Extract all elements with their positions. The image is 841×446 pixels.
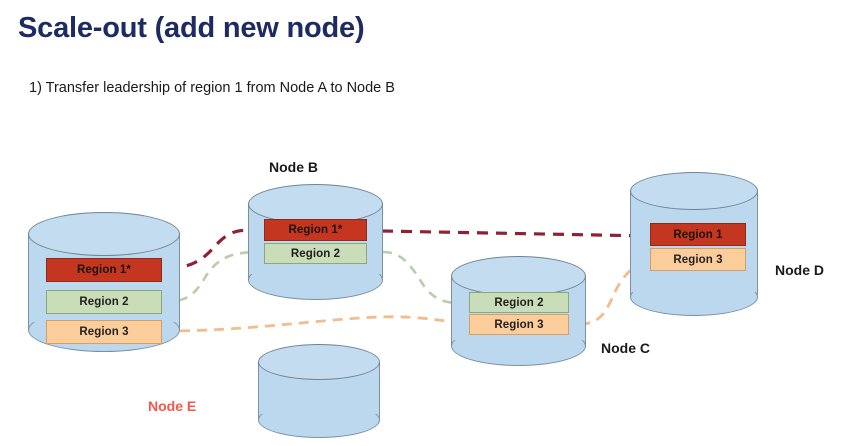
cylinder-top	[258, 344, 380, 380]
cylinder-top	[248, 184, 383, 224]
cylinder-seam-mask	[632, 272, 757, 292]
region-chip[interactable]: Region 1*	[46, 258, 162, 282]
node-b-label: Node B	[269, 159, 318, 175]
cylinder-seam-mask	[260, 396, 379, 414]
node-a-cylinder[interactable]: Region 1* Region 2 Region 3	[28, 212, 180, 352]
region-chip[interactable]: Region 3	[46, 320, 162, 344]
replication-diagram: Region 1* Region 2 Region 3 Region 1* Re…	[0, 0, 841, 446]
connector-region3-a-to-c	[163, 317, 466, 331]
node-b-cylinder[interactable]: Region 1* Region 2	[248, 184, 383, 300]
node-e-cylinder[interactable]	[258, 344, 380, 440]
node-d-cylinder[interactable]: Region 1 Region 3	[630, 172, 758, 316]
cylinder-top	[630, 172, 758, 210]
connector-region1-b-to-d	[382, 231, 650, 236]
node-c-cylinder[interactable]: Region 2 Region 3	[451, 256, 586, 366]
cylinder-top	[28, 212, 180, 256]
node-e-label: Node E	[148, 398, 196, 414]
region-chip[interactable]: Region 3	[650, 248, 746, 271]
region-chip[interactable]: Region 3	[469, 314, 569, 335]
cylinder-shape	[248, 184, 383, 300]
region-chip[interactable]: Region 1*	[264, 219, 367, 241]
node-d-label: Node D	[775, 262, 824, 278]
region-chip[interactable]: Region 2	[264, 243, 367, 264]
region-chip[interactable]: Region 2	[46, 290, 162, 314]
slide-canvas: Scale-out (add new node) 1) Transfer lea…	[0, 0, 841, 446]
cylinder-top	[451, 256, 586, 296]
region-chip[interactable]: Region 1	[650, 223, 746, 246]
cylinder-shape	[258, 344, 380, 440]
node-c-label: Node C	[601, 340, 650, 356]
region-chip[interactable]: Region 2	[469, 292, 569, 313]
